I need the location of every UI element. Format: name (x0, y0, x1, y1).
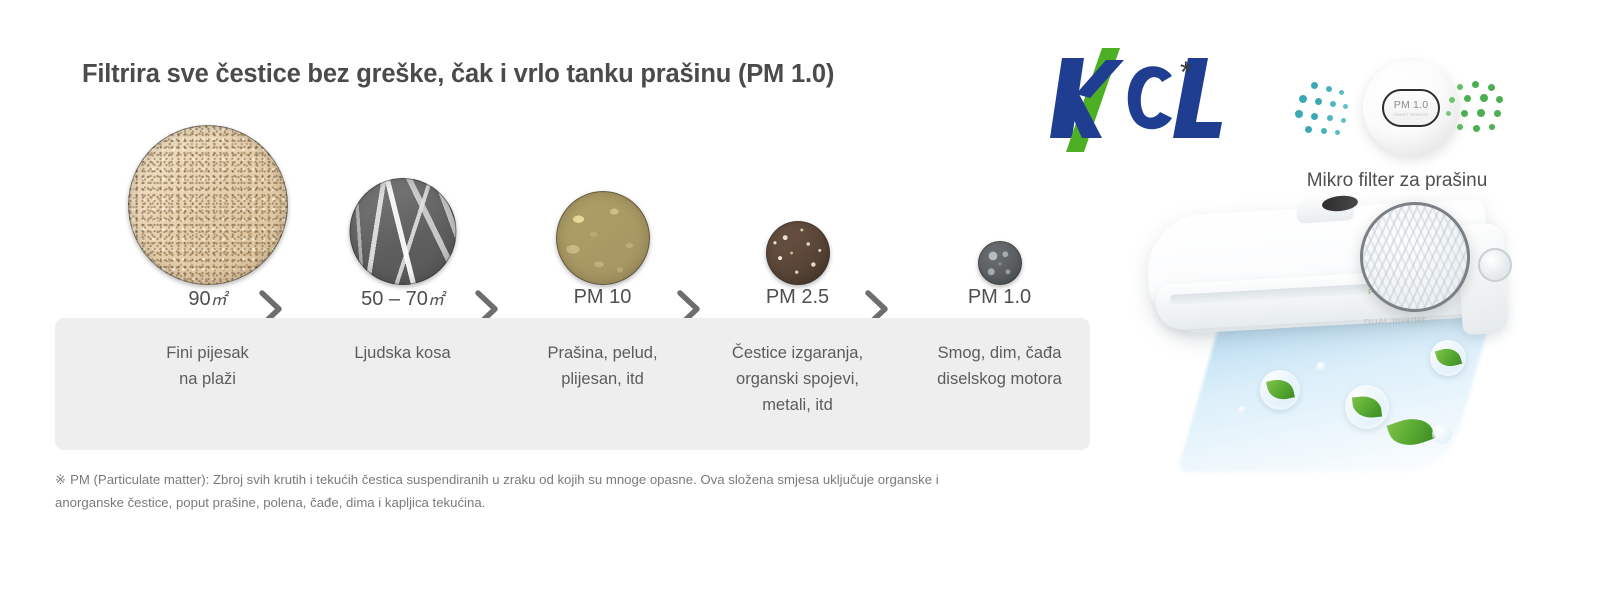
particle-swatch-pm25 (766, 221, 830, 285)
particle-description-panel: Fini pijesak na plaži Ljudska kosa Praši… (55, 318, 1090, 450)
footnote-line-2: anorganske čestice, poput prašine, polen… (55, 495, 485, 510)
particle-chain (60, 110, 1080, 285)
air-conditioner-illustration: PLASMASTER DUAL Inverter (1060, 180, 1600, 480)
bubble-icon (1238, 406, 1247, 415)
bubble-icon (1316, 362, 1327, 373)
pm-sensor-badge-label: PM 1.0 (1394, 99, 1428, 111)
clean-particles-green (1445, 80, 1507, 138)
footnote: ※PM (Particulate matter): Zbroj svih kru… (55, 468, 1065, 514)
footnote-marker-icon: ※ (55, 472, 66, 487)
bubble-icon (1432, 424, 1452, 444)
micrometer-unit: ㎡ (211, 292, 227, 309)
footnote-line-1: PM (Particulate matter): Zbroj svih krut… (70, 472, 939, 487)
pm-filter-infographic: Filtrira sve čestice bez greške, čak i v… (0, 0, 1600, 600)
page-title: Filtrira sve čestice bez greške, čak i v… (82, 60, 834, 89)
kcl-logo (1032, 42, 1232, 152)
kcl-asterisk: * (1180, 58, 1192, 88)
pm-sensor-badge-sublabel: SMART SENSOR (1393, 112, 1428, 117)
particle-swatch-pm10 (556, 191, 650, 285)
filter-magnifier-circle (1360, 202, 1470, 312)
ac-side-knob (1478, 248, 1512, 282)
micrometer-unit: ㎡ (428, 292, 444, 309)
particle-swatch-pm1 (978, 241, 1022, 285)
pm-sensor-badge: PM 1.0 SMART SENSOR (1382, 89, 1440, 127)
particle-size-labels: 90㎡ 50 – 70㎡ PM 10 PM 2.5 PM 1.0 (60, 286, 1080, 318)
dust-particles-teal (1293, 80, 1355, 138)
airflow-stream (1177, 312, 1493, 472)
pm-sensor-illustration: PM 1.0 SMART SENSOR (1285, 58, 1515, 168)
particle-swatch-human-hair (349, 178, 456, 285)
